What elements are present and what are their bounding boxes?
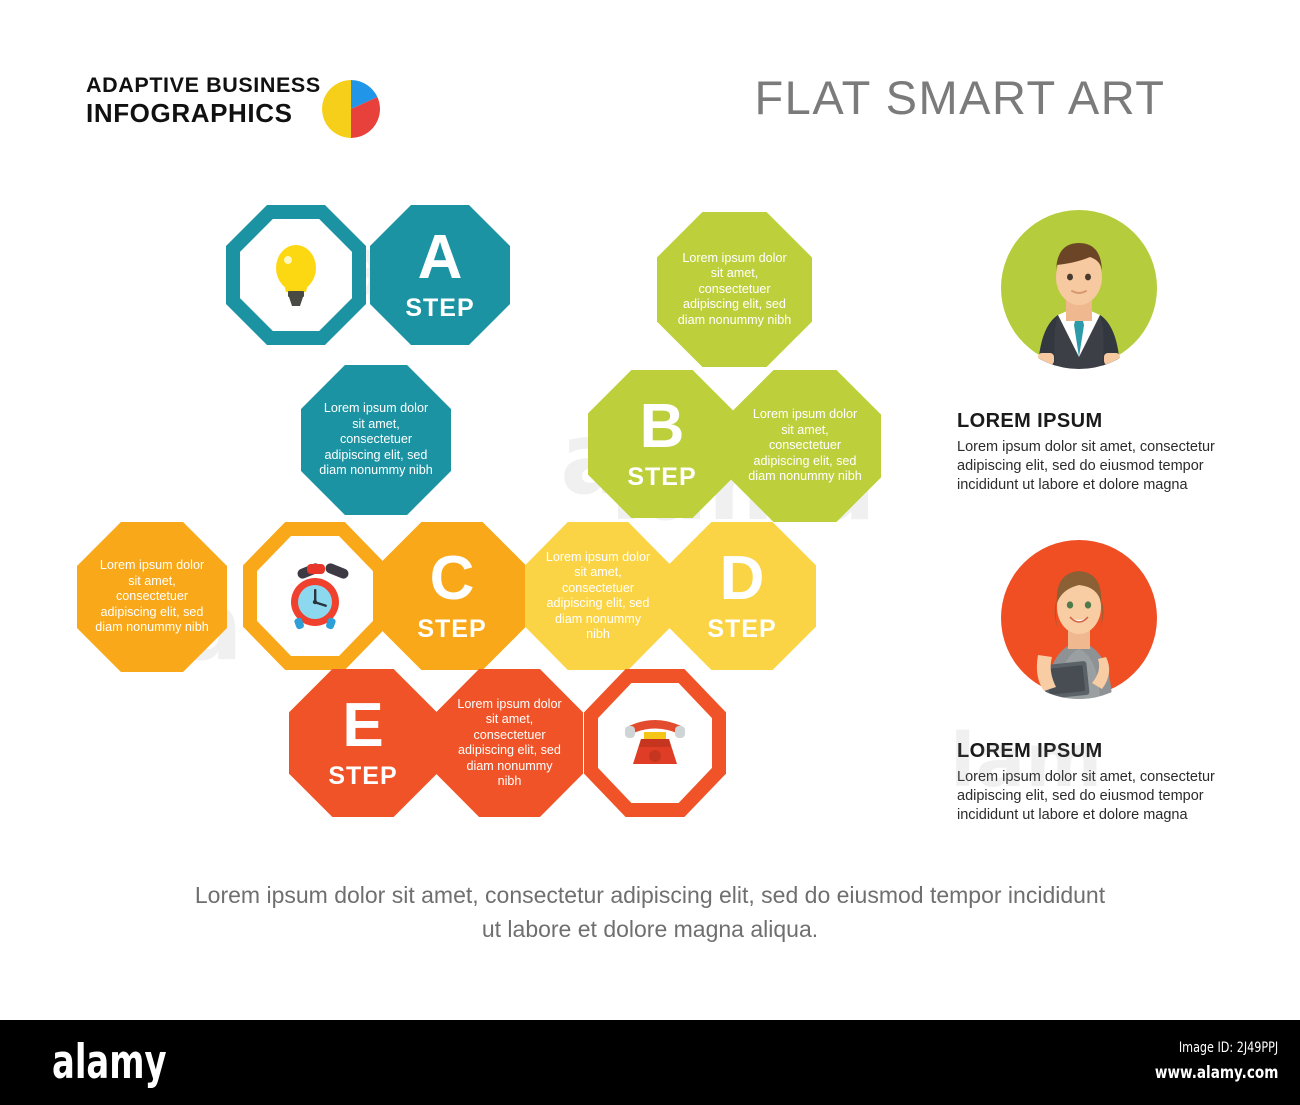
step-e-step-word: STEP	[328, 761, 397, 791]
step-e-letter-octagon[interactable]: E STEP	[289, 669, 437, 817]
step-a-step-word: STEP	[405, 293, 474, 323]
businesswoman-avatar	[998, 537, 1160, 699]
step-b-letter: B	[627, 396, 696, 458]
step-c-letter: C	[417, 548, 486, 610]
step-c-letter-octagon[interactable]: C STEP	[378, 522, 526, 670]
person-1-body: Lorem ipsum dolor sit amet, consectetur …	[957, 438, 1217, 495]
alamy-watermark-bar	[0, 1020, 1300, 1105]
step-a-text: Lorem ipsum dolor sit amet, consectetuer…	[301, 401, 451, 479]
person-1-title: LOREM IPSUM	[957, 410, 1103, 433]
telephone-icon	[619, 714, 691, 772]
step-b-text-octagon-top[interactable]: Lorem ipsum dolor sit amet, consectetuer…	[657, 212, 812, 367]
step-b-text-octagon-right[interactable]: Lorem ipsum dolor sit amet, consectetuer…	[729, 370, 881, 522]
step-b-label: B STEP	[627, 396, 696, 492]
step-e-icon-octagon[interactable]	[584, 669, 726, 817]
step-b-text-right: Lorem ipsum dolor sit amet, consectetuer…	[729, 407, 881, 485]
person-2-body: Lorem ipsum dolor sit amet, consectetur …	[957, 768, 1217, 825]
step-b-text-top: Lorem ipsum dolor sit amet, consectetuer…	[657, 251, 812, 329]
alarm-clock-icon	[279, 560, 351, 632]
alamy-brand-logo: alamy	[52, 1035, 167, 1090]
pie-chart-icon	[322, 80, 380, 138]
step-d-text-octagon[interactable]: Lorem ipsum dolor sit amet, consectetuer…	[525, 522, 671, 670]
step-e-text: Lorem ipsum dolor sit amet, consectetuer…	[436, 697, 583, 790]
step-a-text-octagon[interactable]: Lorem ipsum dolor sit amet, consectetuer…	[301, 365, 451, 515]
step-c-icon-octagon[interactable]	[243, 522, 387, 670]
alamy-url[interactable]: www.alamy.com	[1154, 1063, 1278, 1083]
step-b-letter-octagon[interactable]: B STEP	[588, 370, 736, 518]
step-c-text-octagon[interactable]: Lorem ipsum dolor sit amet, consectetuer…	[77, 522, 227, 672]
step-c-text: Lorem ipsum dolor sit amet, consectetuer…	[77, 558, 227, 636]
step-d-step-word: STEP	[707, 614, 776, 644]
step-e-label: E STEP	[328, 695, 397, 791]
footer-caption: Lorem ipsum dolor sit amet, consectetur …	[190, 878, 1110, 946]
lightbulb-icon	[268, 240, 324, 310]
step-c-step-word: STEP	[417, 614, 486, 644]
step-d-letter: D	[707, 548, 776, 610]
step-b-step-word: STEP	[627, 462, 696, 492]
step-a-letter-octagon[interactable]: A STEP	[370, 205, 510, 345]
step-a-letter: A	[405, 227, 474, 289]
person-2-title: LOREM IPSUM	[957, 740, 1103, 763]
step-d-text: Lorem ipsum dolor sit amet, consectetuer…	[525, 550, 671, 643]
step-a-icon-octagon[interactable]	[226, 205, 366, 345]
alamy-image-id: Image ID: 2J49PPJ	[1179, 1040, 1278, 1056]
page-title: FLAT SMART ART	[700, 68, 1220, 128]
step-e-text-octagon[interactable]: Lorem ipsum dolor sit amet, consectetuer…	[436, 669, 583, 817]
step-d-label: D STEP	[707, 548, 776, 644]
step-c-label: C STEP	[417, 548, 486, 644]
infographic-canvas: ADAPTIVE BUSINESS INFOGRAPHICS FLAT SMAR…	[0, 0, 1300, 1020]
step-a-label: A STEP	[405, 227, 474, 323]
businessman-avatar	[998, 207, 1160, 369]
step-e-letter: E	[328, 695, 397, 757]
step-d-letter-octagon[interactable]: D STEP	[668, 522, 816, 670]
